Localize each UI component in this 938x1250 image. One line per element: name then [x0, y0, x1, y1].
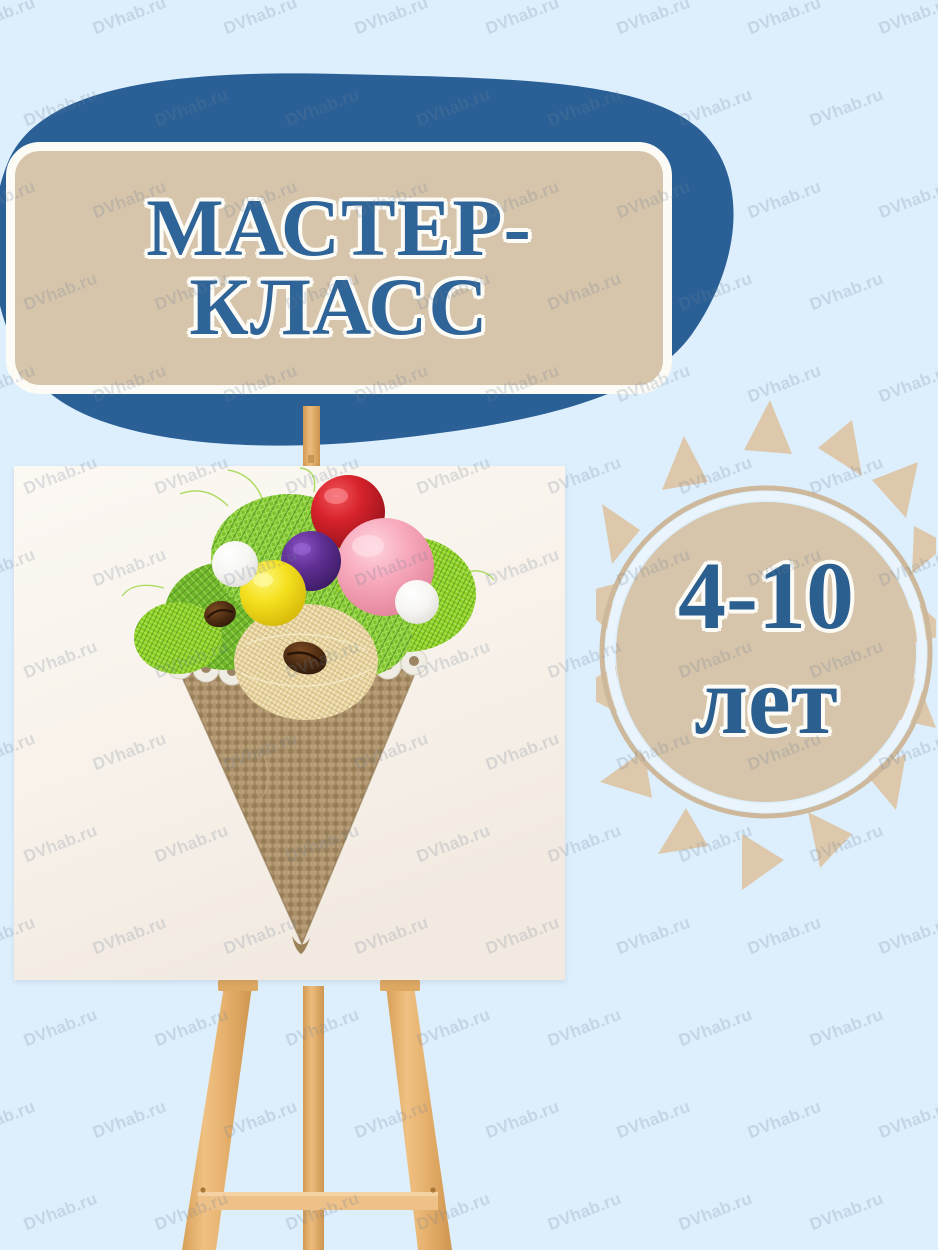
- sun-disc: [616, 502, 916, 802]
- master-class-banner: МАСТЕР- КЛАСС: [6, 142, 672, 394]
- age-badge: 4-10 лет: [596, 398, 936, 898]
- banner-title-line-2: КЛАСС: [146, 268, 532, 347]
- white-ball-left: [212, 541, 258, 587]
- poster-canvas: МАСТЕР- КЛАСС: [0, 0, 938, 1250]
- craft-artwork-photo: [14, 466, 565, 980]
- white-ball-right: [395, 580, 439, 624]
- banner-title-line-1: МАСТЕР-: [146, 189, 532, 268]
- page-title: МАСТЕР- КЛАСС: [132, 189, 546, 346]
- sun-rays-icon: [596, 398, 936, 898]
